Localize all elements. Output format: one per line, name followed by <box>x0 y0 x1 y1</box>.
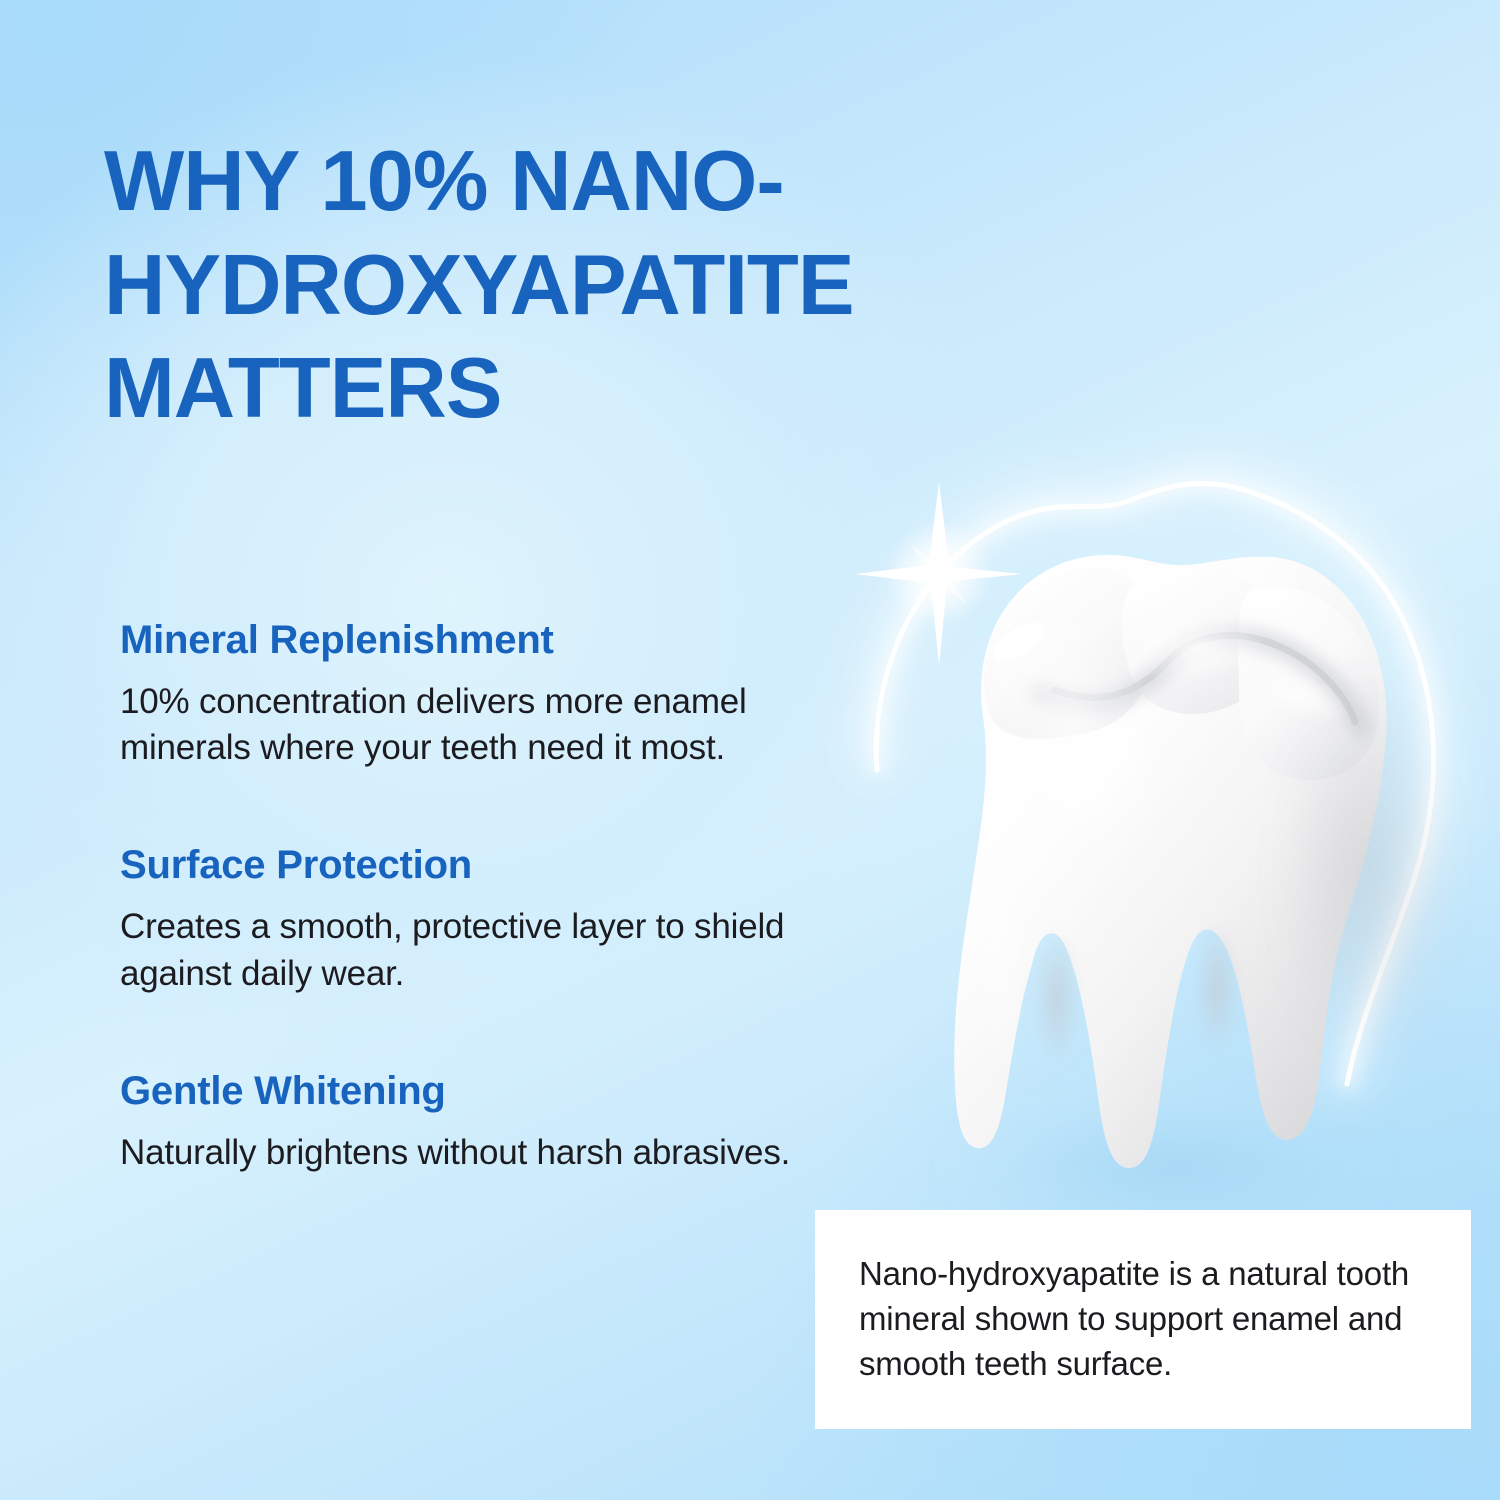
benefit-item-mineral-replenishment: Mineral Replenishment 10% concentration … <box>120 618 860 771</box>
tooth-ground-shadow <box>950 1124 1380 1208</box>
benefit-list: Mineral Replenishment 10% concentration … <box>120 618 860 1176</box>
benefit-item-gentle-whitening: Gentle Whitening Naturally brightens wit… <box>120 1069 860 1176</box>
tooth-illustration <box>805 398 1500 1238</box>
benefit-title: Gentle Whitening <box>120 1069 860 1114</box>
tooth-side-shading <box>1275 668 1455 1068</box>
benefit-description: 10% concentration delivers more enamel m… <box>120 679 860 771</box>
tooth-highlight-root <box>975 848 1027 1068</box>
infographic-canvas: Why 10% Nano-Hydroxyapatite Matters Mine… <box>0 0 1500 1500</box>
page-title: Why 10% Nano-Hydroxyapatite Matters <box>104 130 1044 441</box>
callout-box: Nano-hydroxyapatite is a natural tooth m… <box>815 1210 1471 1429</box>
benefit-title: Surface Protection <box>120 843 860 888</box>
tooth-root-gap-left <box>1035 928 1079 1068</box>
callout-text: Nano-hydroxyapatite is a natural tooth m… <box>815 1252 1471 1387</box>
benefit-description: Naturally brightens without harsh abrasi… <box>120 1130 860 1176</box>
benefit-title: Mineral Replenishment <box>120 618 860 663</box>
benefit-description: Creates a smooth, protective layer to sh… <box>120 904 860 996</box>
tooth-root-gap-right <box>1195 918 1239 1058</box>
benefit-item-surface-protection: Surface Protection Creates a smooth, pro… <box>120 843 860 996</box>
